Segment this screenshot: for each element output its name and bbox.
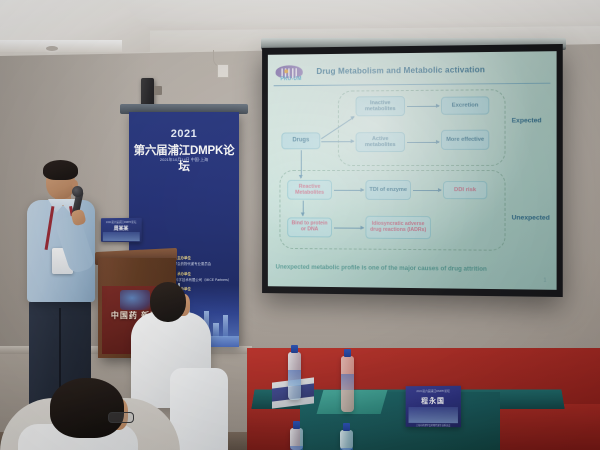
- group-unexpected-label: Unexpected: [512, 214, 550, 221]
- podium-sign-header: 2021第六届浦江DMPK论坛: [101, 220, 142, 224]
- presentation-slide: PKU-UM Drug Metabolism and Metabolic act…: [268, 51, 557, 290]
- arrow-tdi-to-ddi: [413, 190, 441, 191]
- water-bottle: [288, 352, 301, 400]
- slide-title: Drug Metabolism and Metabolic activation: [316, 65, 485, 76]
- projection-screen: PKU-UM Drug Metabolism and Metabolic act…: [262, 44, 563, 297]
- group-expected-label: Expected: [512, 117, 542, 124]
- slide-diagram: Expected Unexpected Drugs Inactive metab…: [274, 87, 551, 284]
- power-outlet-icon: [217, 64, 229, 78]
- arrow-drugs-to-reactive: [301, 150, 302, 178]
- attendee-right-body: [170, 368, 228, 450]
- eyeglasses-icon: [108, 412, 134, 423]
- water-bottle: [290, 428, 303, 450]
- arrow-inactive-to-excretion: [407, 106, 439, 107]
- conference-room-photo: PKU-UM Drug Metabolism and Metabolic act…: [0, 0, 600, 450]
- arrow-active-to-more-effective: [407, 142, 439, 143]
- water-bottle: [340, 430, 353, 450]
- podium-nameplate: 2021第六届浦江DMPK论坛 周某某: [101, 218, 142, 242]
- namecard-name: 程永国: [406, 396, 461, 406]
- screen-surface: PKU-UM Drug Metabolism and Metabolic act…: [268, 51, 557, 290]
- namecard-header: 2021第六届浦江DMPK论坛: [406, 389, 461, 393]
- node-reactive-metabolites: Reactive Metabolites: [287, 180, 332, 200]
- water-bottle: [341, 356, 354, 412]
- node-active-metabolites: Active metabolites: [356, 132, 405, 152]
- node-excretion: Excretion: [441, 96, 489, 114]
- speaker-hair: [43, 160, 78, 180]
- node-inactive-metabolites: Inactive metabolites: [356, 96, 405, 116]
- attendee-mid-head: [150, 282, 186, 322]
- arrow-reactive-to-tdi: [334, 190, 363, 191]
- speaker-bracket: [154, 86, 162, 95]
- node-ddi-risk: DDI risk: [443, 181, 487, 199]
- arrow-bind-to-iadrs: [334, 228, 363, 229]
- arrow-reactive-to-bind: [303, 201, 304, 216]
- soffit-edge: [0, 40, 122, 52]
- podium-emblem-icon: [120, 290, 150, 310]
- podium-sign-name: 周某某: [101, 225, 142, 232]
- node-drugs: Drugs: [281, 132, 320, 149]
- banner-year: 2021: [129, 128, 239, 140]
- node-tdi-of-enzyme: TDI of enzyme: [365, 180, 411, 200]
- attendee-front-head: [50, 378, 124, 438]
- arrow-drugs-to-active: [321, 141, 353, 142]
- namecard-skyline: [409, 407, 458, 423]
- head-table-namecard: 2021第六届浦江DMPK论坛 程永国 上海市药理学会药物代谢专业委员会: [406, 386, 461, 427]
- institution-logo-icon: PKU-UM: [276, 65, 311, 84]
- namecard-footer: 上海市药理学会药物代谢专业委员会: [406, 423, 461, 427]
- podium-sign-skyline: [103, 232, 140, 241]
- banner-subtitle: 2021年10月14日 中国·上海: [129, 157, 239, 163]
- node-more-effective: More effective: [441, 130, 489, 150]
- microphone-head-icon: [72, 186, 83, 197]
- node-iadrs: Idiosyncratic adverse drug reactions (IA…: [365, 216, 431, 239]
- ceiling-downlight-icon: [46, 46, 58, 51]
- node-bind-to-protein-or-dna: Bind to protein or DNA: [287, 217, 332, 237]
- slide-page-number: 1: [543, 278, 546, 284]
- logo-text: PKU-UM: [280, 76, 301, 82]
